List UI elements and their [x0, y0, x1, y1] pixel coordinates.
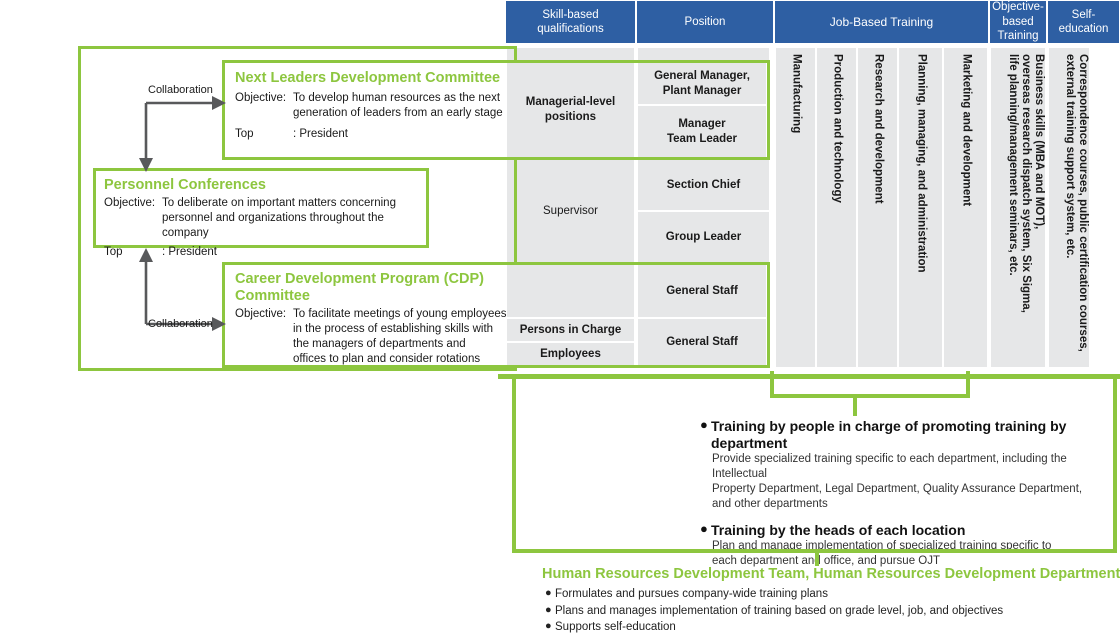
department-training-block: ● Training by people in charge of promot…	[700, 418, 1115, 569]
hr-bracket-top	[498, 374, 1120, 379]
header-job-based-training: Job-Based Training	[774, 0, 989, 44]
hr-department-list-item: ● Supports self-education	[545, 619, 1105, 636]
header-skill-based-label: Skill-based qualifications	[537, 8, 603, 37]
skill-level-label: Managerial-level positions	[526, 95, 615, 125]
department-training-item: ● Training by the heads of each location…	[700, 522, 1115, 569]
committee-title: Personnel Conferences	[104, 177, 426, 194]
diagram-canvas: Skill-based qualifications Position Job-…	[0, 0, 1120, 633]
job-training-column-research-and-development: Research and development	[858, 48, 897, 367]
job-training-column-production-and-technology: Production and technology	[817, 48, 856, 367]
committee-row-key: Objective:	[235, 307, 293, 367]
position-cell-general-staff-2-overlay: General Staff	[638, 319, 766, 365]
collaboration-label-bottom: Collaboration	[148, 318, 213, 330]
skill-level-cell-supervisor: Supervisor	[507, 160, 634, 263]
hr-department-list-item: ● Plans and manages implementation of tr…	[545, 603, 1105, 620]
hr-bracket-drop	[815, 549, 819, 566]
committee-box-personnel-conferences: Personnel Conferences Objective: To deli…	[93, 168, 429, 248]
job-training-column-label: Production and technology	[830, 54, 843, 203]
position-cell-general-manager-overlay: General Manager, Plant Manager	[638, 63, 766, 104]
skill-level-cell-persons-in-charge-overlay: Persons in Charge	[507, 319, 634, 341]
self-education-column: Correspondence courses, public certifica…	[1049, 48, 1089, 367]
position-cell-general-staff-1-overlay: General Staff	[638, 265, 766, 317]
job-training-column-marketing-and-development: Marketing and development	[944, 48, 987, 367]
bullet-dot: ●	[700, 522, 711, 539]
hr-bracket-right	[1113, 379, 1117, 553]
department-training-heading: Training by people in charge of promotin…	[711, 418, 1115, 452]
objective-based-training-column: Business skills (MBA and MOT), overseas …	[991, 48, 1045, 367]
department-training-heading: Training by the heads of each location	[711, 522, 965, 539]
skill-level-cell-blank-overlay	[507, 265, 634, 317]
bullet-dot: ●	[545, 603, 555, 620]
position-cell-manager-overlay: Manager Team Leader	[638, 106, 766, 157]
header-self-education-label: Self- education	[1059, 8, 1109, 37]
header-position-label: Position	[685, 15, 726, 29]
job-training-column-label: Marketing and development	[959, 54, 972, 206]
header-objective-based-training: Objective- based Training	[989, 0, 1047, 44]
skill-level-label: Persons in Charge	[520, 323, 622, 338]
skill-level-cell-employees-overlay: Employees	[507, 343, 634, 365]
hr-department-list-item: ● Formulates and pursues company-wide tr…	[545, 586, 1105, 603]
job-training-column-label: Manufacturing	[789, 54, 802, 133]
job-training-column-label: Planning, managing, and administration	[914, 54, 927, 273]
department-training-detail: Provide specialized training specific to…	[712, 452, 1115, 513]
department-training-item: ● Training by people in charge of promot…	[700, 418, 1115, 513]
bracket-job-training-horizontal	[770, 394, 970, 398]
job-training-column-planning-managing-administration: Planning, managing, and administration	[899, 48, 942, 367]
hr-department-item-label: Plans and manages implementation of trai…	[555, 603, 1003, 620]
header-job-based-training-label: Job-Based Training	[830, 15, 933, 30]
objective-based-training-label: Business skills (MBA and MOT), overseas …	[1005, 54, 1045, 361]
position-label: General Staff	[666, 284, 738, 299]
committee-row-value: To deliberate on important matters conce…	[162, 196, 426, 241]
position-cell-group-leader: Group Leader	[638, 212, 769, 263]
position-label: General Staff	[666, 335, 738, 350]
header-position: Position	[636, 0, 774, 44]
bullet-dot: ●	[545, 619, 555, 636]
header-self-education: Self- education	[1047, 0, 1120, 44]
collaboration-arrow-top	[140, 88, 230, 178]
hr-department-item-label: Supports self-education	[555, 619, 676, 636]
job-training-column-manufacturing: Manufacturing	[776, 48, 815, 367]
hr-department-title: Human Resources Development Team, Human …	[542, 566, 1120, 582]
position-label: Group Leader	[666, 230, 741, 245]
position-label: Section Chief	[667, 178, 740, 193]
skill-level-label: Employees	[540, 347, 601, 362]
position-label: General Manager, Plant Manager	[654, 69, 750, 99]
position-label: Manager Team Leader	[667, 117, 737, 147]
skill-level-label: Supervisor	[543, 204, 598, 219]
collaboration-label-top: Collaboration	[148, 84, 213, 96]
hr-department-list: ● Formulates and pursues company-wide tr…	[545, 586, 1105, 636]
position-cell-section-chief: Section Chief	[638, 160, 769, 210]
bullet-dot: ●	[700, 418, 711, 452]
header-objective-based-label: Objective- based Training	[992, 0, 1044, 43]
bullet-dot: ●	[545, 586, 555, 603]
committee-row-key: Objective:	[235, 91, 293, 121]
hr-bracket-left	[512, 379, 516, 553]
self-education-label: Correspondence courses, public certifica…	[1063, 54, 1089, 361]
committee-row-key: Objective:	[104, 196, 162, 241]
bracket-job-training-drop	[853, 394, 857, 416]
committee-row-key: Top	[235, 127, 293, 142]
skill-level-cell-managerial-overlay: Managerial-level positions	[507, 63, 634, 157]
committee-row: Objective: To deliberate on important ma…	[104, 196, 426, 241]
job-training-column-label: Research and development	[871, 54, 884, 204]
hr-department-item-label: Formulates and pursues company-wide trai…	[555, 586, 828, 603]
department-training-detail: Plan and manage implementation of specia…	[712, 539, 1115, 570]
header-skill-based-qualifications: Skill-based qualifications	[505, 0, 636, 44]
